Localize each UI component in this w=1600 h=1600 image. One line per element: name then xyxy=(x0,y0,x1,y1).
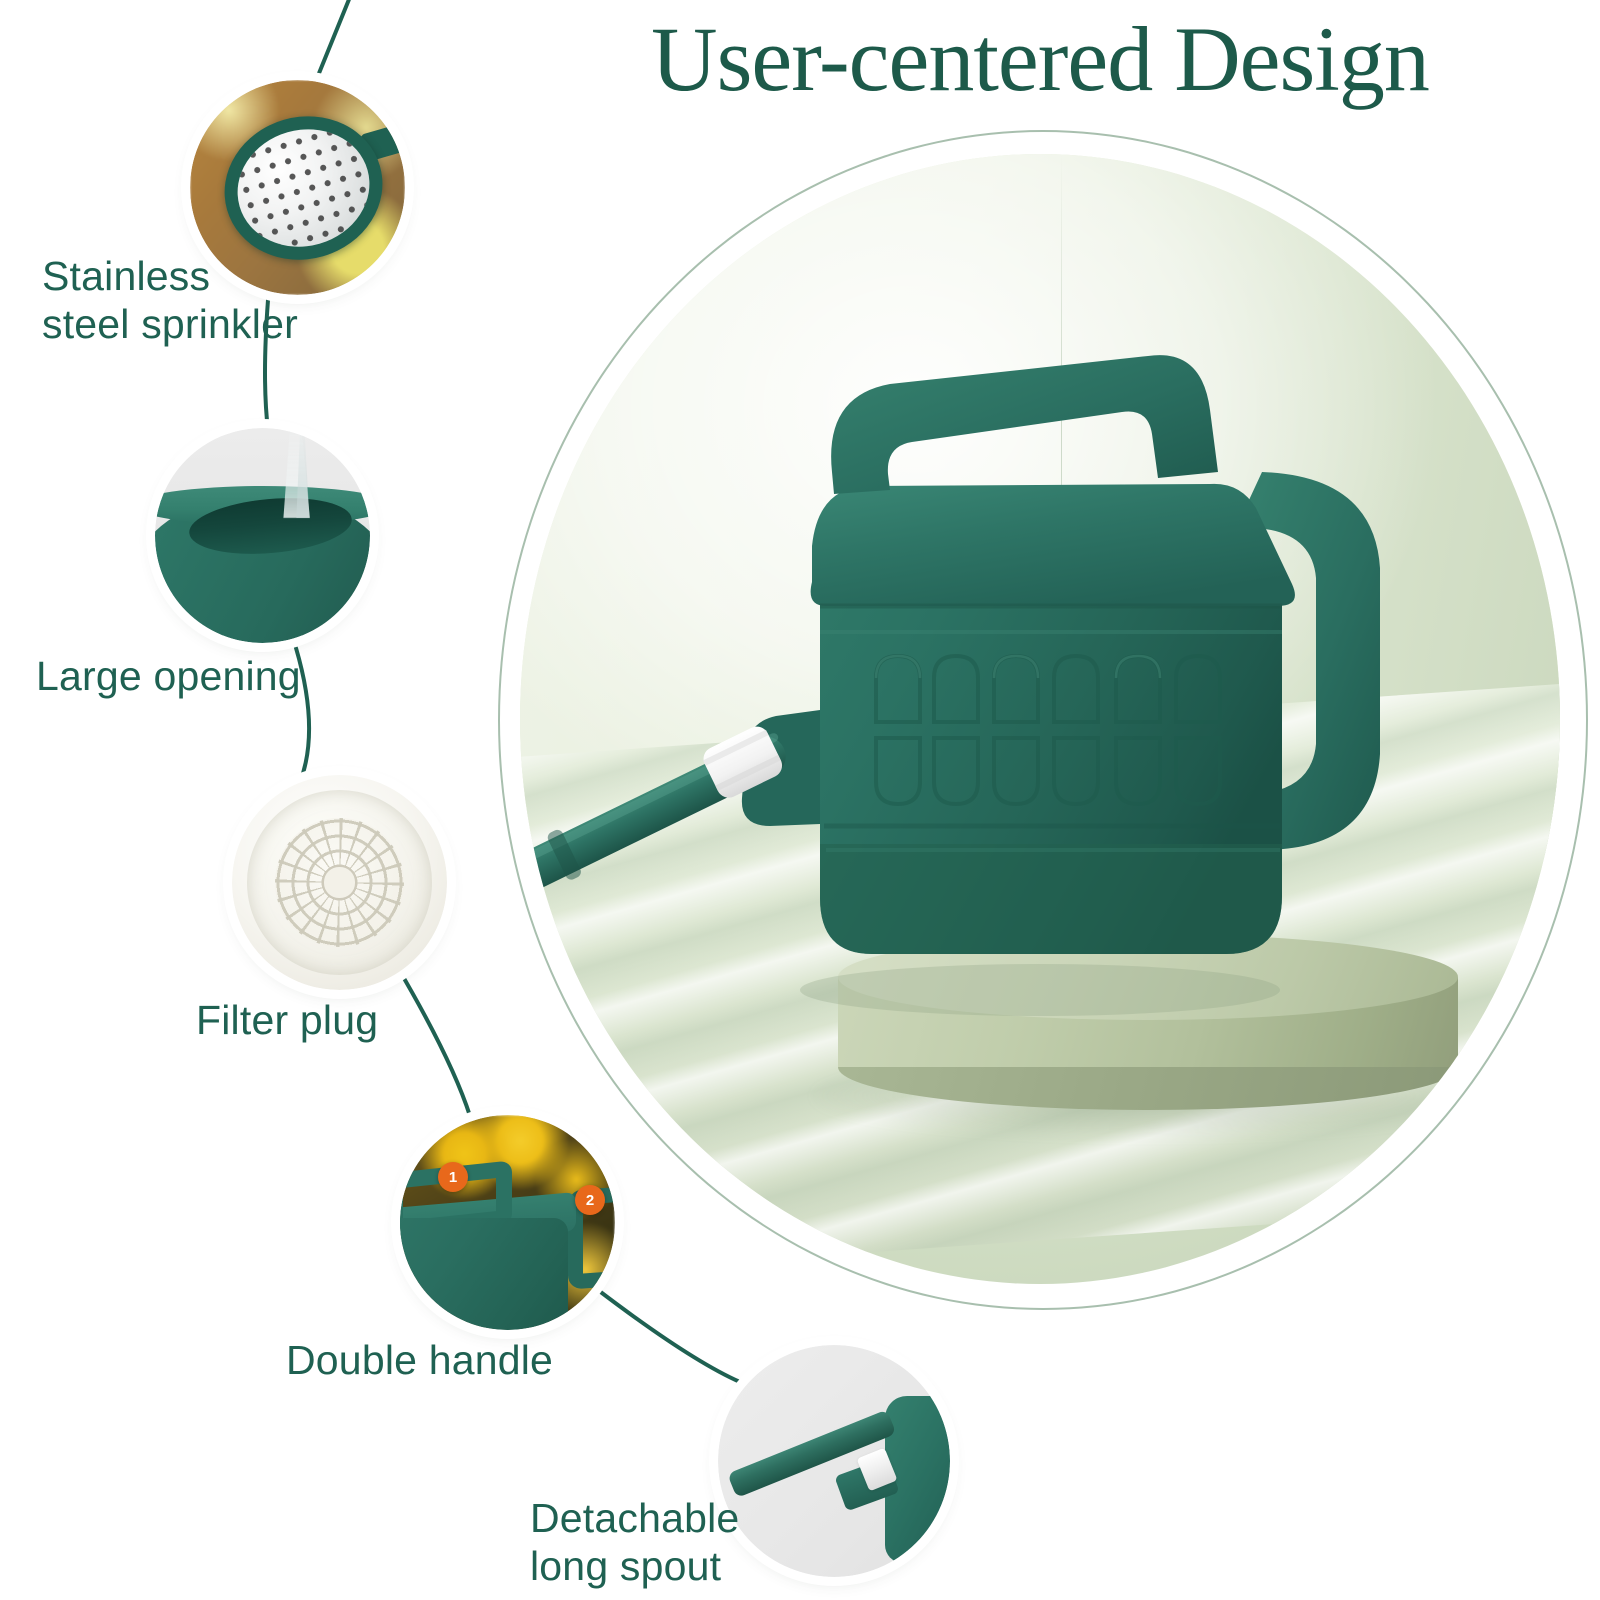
callout-label-spout: Detachable long spout xyxy=(530,1495,739,1591)
can-spout xyxy=(520,695,799,1063)
connector-spout-label xyxy=(470,1418,560,1432)
callout-label-handle: Double handle xyxy=(286,1337,553,1385)
can-top-handle xyxy=(831,355,1218,494)
watering-can-illustration xyxy=(520,154,1560,1284)
infographic-canvas: User-centered Design xyxy=(0,0,1600,1600)
handle-badge-2: 2 xyxy=(575,1185,605,1215)
callout-label-sprinkler: Stainless steel sprinkler xyxy=(42,253,298,349)
hero-circle xyxy=(498,130,1598,1320)
connector-filter-handle xyxy=(398,968,470,1116)
callout-thumb-spout[interactable] xyxy=(718,1345,950,1577)
filter-hub xyxy=(324,867,354,897)
callout-thumb-handle[interactable]: 1 2 xyxy=(400,1115,615,1330)
handle-can-body xyxy=(400,1218,568,1330)
callout-label-opening: Large opening xyxy=(36,653,301,701)
callout-thumb-opening[interactable] xyxy=(155,428,370,643)
hero-photo xyxy=(520,154,1560,1284)
handle-badge-1: 1 xyxy=(438,1162,468,1192)
callout-label-filter: Filter plug xyxy=(196,997,378,1045)
can-shoulder xyxy=(811,484,1295,606)
callout-thumb-filter[interactable] xyxy=(232,775,447,990)
